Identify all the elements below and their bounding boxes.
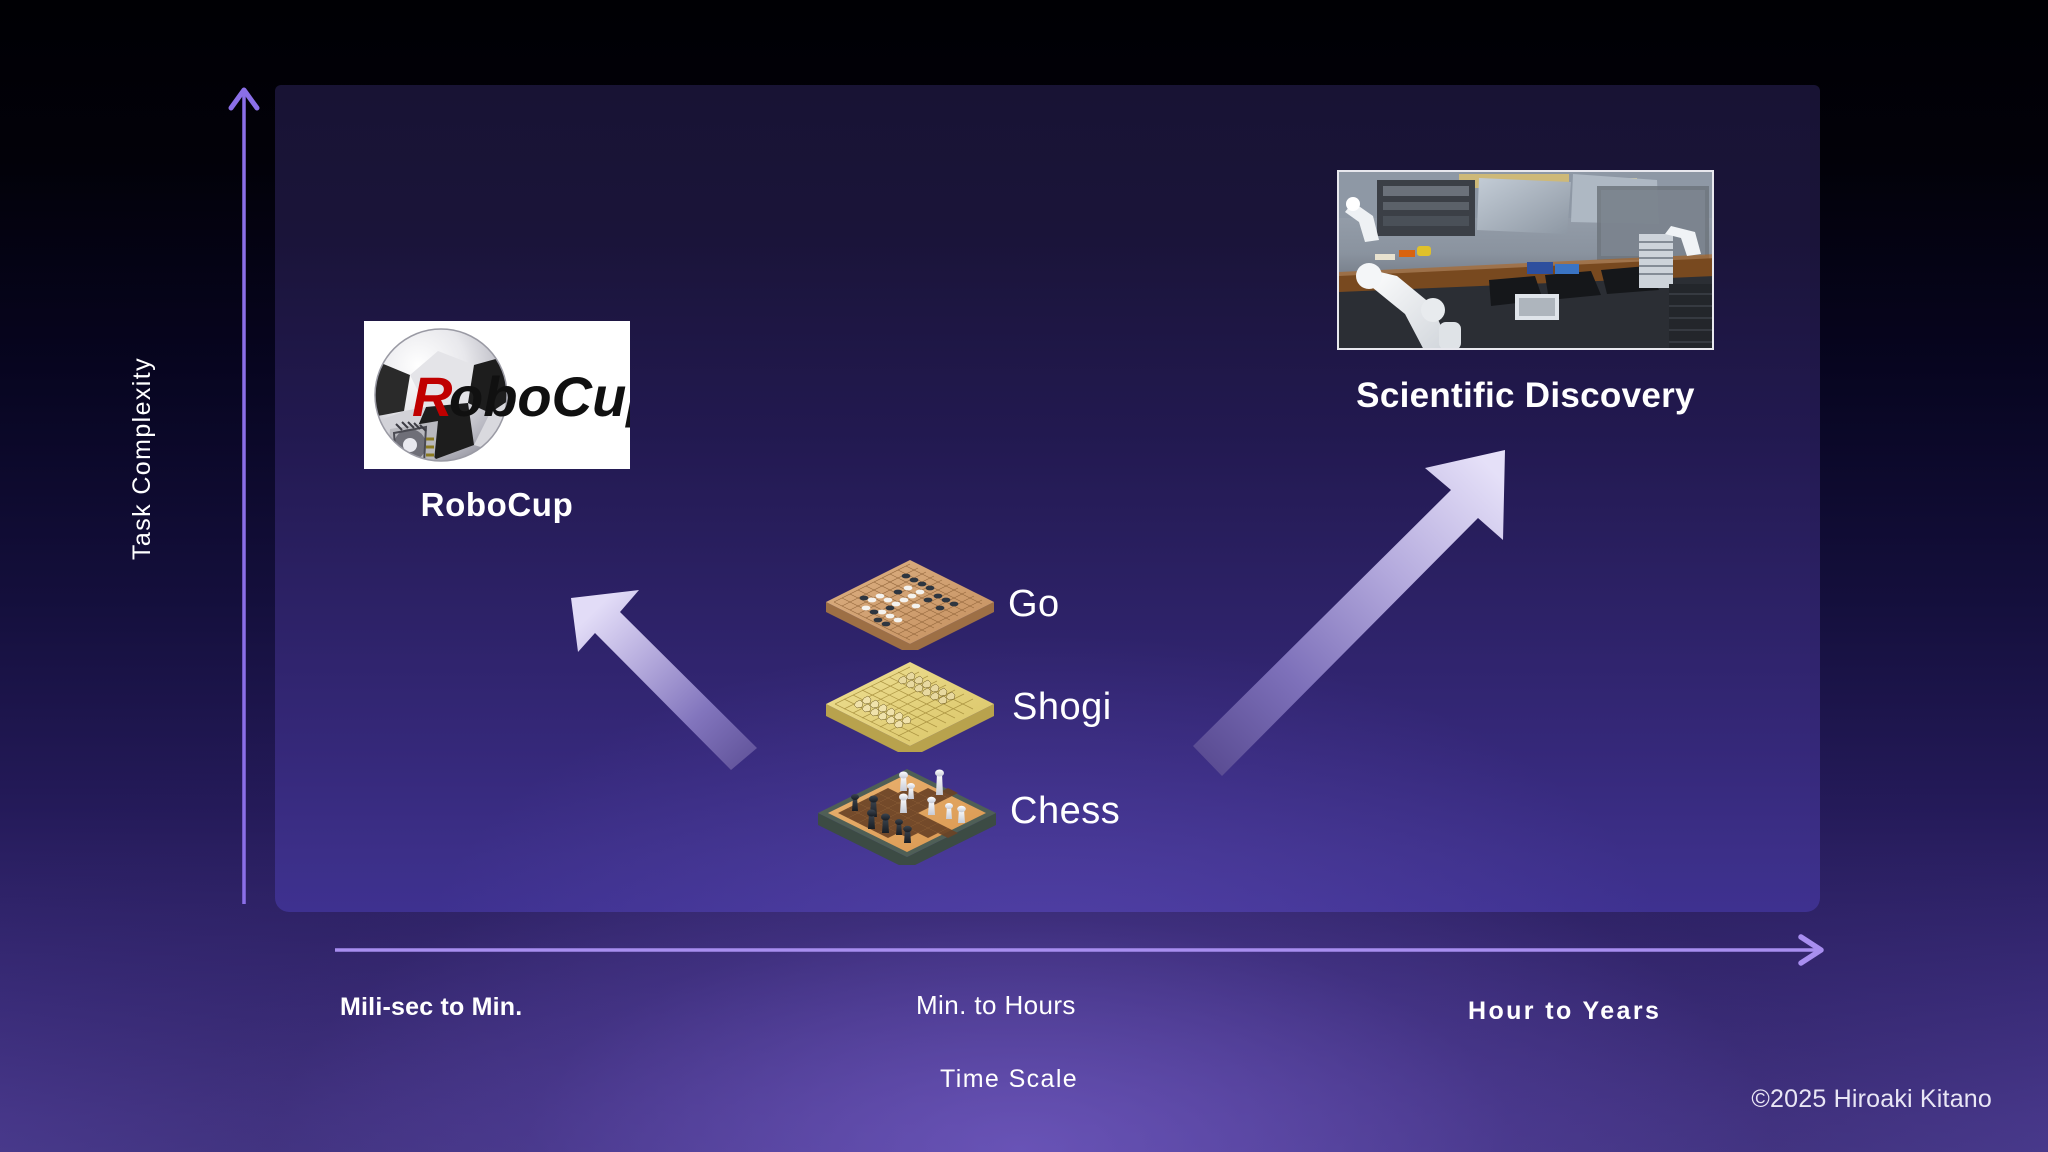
shogi-board-icon [820,652,1000,757]
go-board-icon [820,550,1000,655]
x-tick-label-0: Mili-sec to Min. [340,993,522,1022]
chess-board-icon [812,755,1002,870]
robocup-label: RoboCup [364,486,630,524]
arrow-up-left-icon [565,570,765,770]
robocup-logo-rest: oboCup [449,365,630,428]
robotic-laboratory-photo [1337,170,1714,350]
game-label-chess: Chess [1010,790,1120,833]
x-axis [335,930,1835,970]
up-arrow-icon [224,78,264,904]
x-tick-label-1: Min. to Hours [916,990,1076,1021]
y-axis-title: Task Complexity [128,357,157,560]
robocup-logo-r: R [412,365,453,428]
x-axis-title: Time Scale [940,1065,1078,1094]
y-axis [224,78,264,904]
scientific-discovery-label: Scientific Discovery [1317,376,1734,416]
robocup-logo: R oboCup [364,321,630,469]
gear-badge-icon [388,421,438,469]
arrow-up-right-icon [1185,440,1515,780]
copyright-notice: ©2025 Hiroaki Kitano [1751,1085,1992,1114]
game-label-go: Go [1008,583,1060,626]
x-tick-label-2: Hour to Years [1468,997,1661,1026]
scientific-discovery-item: Scientific Discovery [1337,170,1714,380]
robocup-item: R oboCup RoboCup [364,321,630,571]
right-arrow-icon [335,930,1835,970]
slide-canvas: Task Complexity Time Scale Mili-sec to M… [0,0,2048,1152]
game-label-shogi: Shogi [1012,686,1112,729]
